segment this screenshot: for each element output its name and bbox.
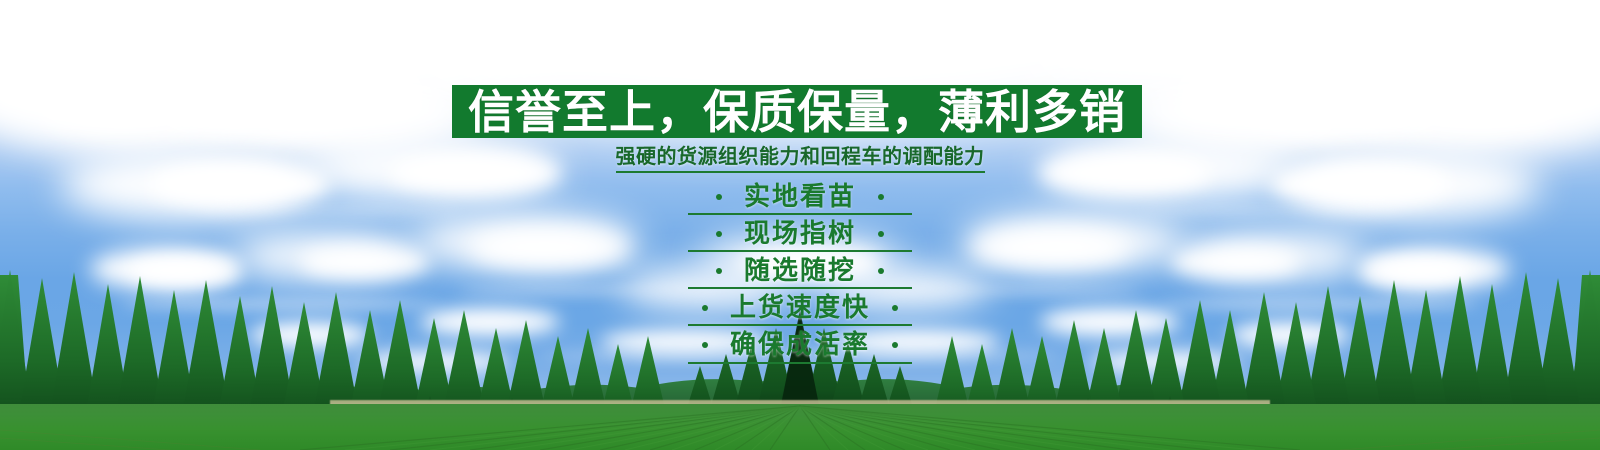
subtitle-text: 强硬的货源组织能力和回程车的调配能力	[616, 146, 985, 173]
bullet-dot-icon	[716, 194, 722, 200]
feature-item-4: 上货速度快	[0, 289, 1600, 326]
feature-list: 实地看苗 现场指树 随选随挖 上货速度快 确保成活率	[0, 178, 1600, 363]
feature-item-1: 实地看苗	[0, 178, 1600, 215]
bullet-dot-icon	[702, 342, 708, 348]
bullet-dot-icon	[702, 305, 708, 311]
subtitle: 强硬的货源组织能力和回程车的调配能力	[0, 146, 1600, 173]
feature-label: 现场指树	[744, 221, 856, 247]
feature-label: 确保成活率	[730, 332, 870, 358]
feature-label: 随选随挖	[744, 258, 856, 284]
bullet-dot-icon	[878, 231, 884, 237]
feature-divider	[688, 362, 912, 364]
bullet-dot-icon	[716, 231, 722, 237]
feature-item-2: 现场指树	[0, 215, 1600, 252]
bullet-dot-icon	[878, 268, 884, 274]
promo-banner: 信誉至上，保质保量，薄利多销 强硬的货源组织能力和回程车的调配能力 实地看苗 现…	[0, 0, 1600, 450]
crop-rows	[0, 404, 1600, 450]
bullet-dot-icon	[892, 342, 898, 348]
feature-item-3: 随选随挖	[0, 252, 1600, 289]
headline-bar: 信誉至上，保质保量，薄利多销	[452, 85, 1142, 138]
bullet-dot-icon	[878, 194, 884, 200]
headline-text: 信誉至上，保质保量，薄利多销	[468, 89, 1126, 135]
bullet-dot-icon	[716, 268, 722, 274]
grass-field	[0, 404, 1600, 450]
feature-label: 上货速度快	[730, 295, 870, 321]
feature-item-5: 确保成活率	[0, 326, 1600, 363]
feature-label: 实地看苗	[744, 184, 856, 210]
bullet-dot-icon	[892, 305, 898, 311]
